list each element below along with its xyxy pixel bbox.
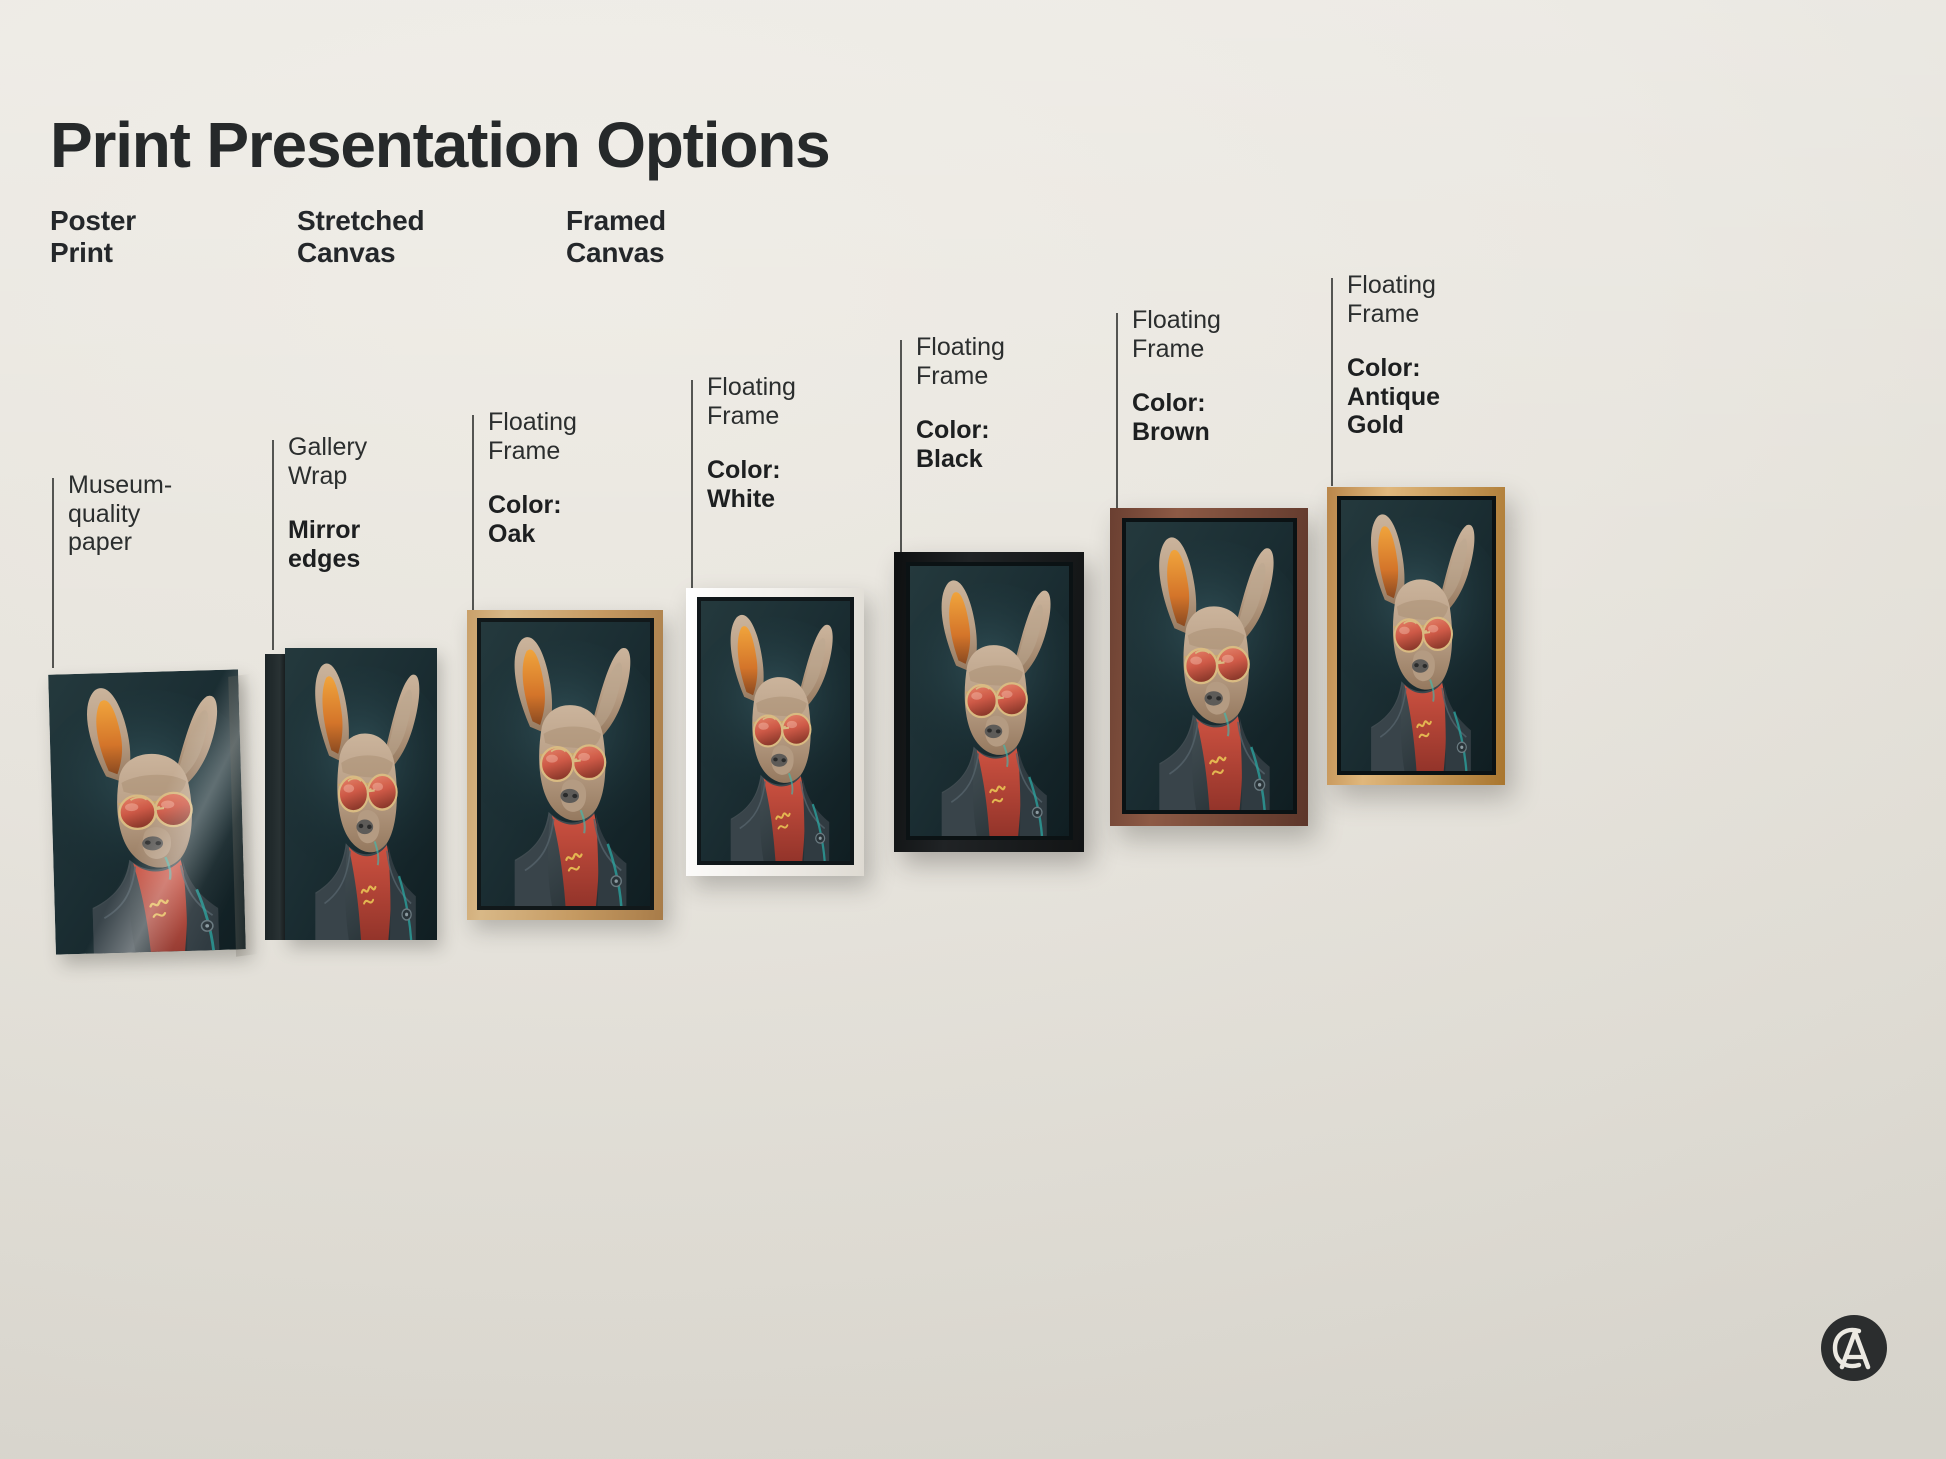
mockup-framed-antique-gold[interactable] (1327, 487, 1505, 785)
category-heading-framed-canvas: Framed Canvas (566, 205, 666, 270)
artwork-kangaroo (481, 622, 650, 906)
frame-gap (477, 618, 654, 910)
artwork-kangaroo (48, 669, 246, 954)
leader-line (272, 440, 274, 650)
callout-primary-text: Floating Frame (916, 333, 1106, 390)
canvas-face (701, 601, 850, 861)
canvas-face (285, 648, 437, 940)
callout-primary-text: Floating Frame (488, 408, 678, 465)
callout-primary-text: Museum- quality paper (68, 471, 258, 557)
mockup-framed-brown[interactable] (1110, 508, 1308, 826)
callout-secondary-text: Color: Black (916, 416, 1106, 473)
mockup-poster-print[interactable] (48, 669, 246, 954)
mockup-stretched-canvas[interactable] (265, 648, 437, 940)
artwork-kangaroo (285, 648, 437, 940)
frame-gap (1122, 518, 1297, 814)
leader-line (472, 415, 474, 615)
callout-primary-text: Floating Frame (1132, 306, 1322, 363)
page-title: Print Presentation Options (50, 108, 830, 182)
artwork-kangaroo (1126, 522, 1293, 810)
canvas-face (481, 622, 650, 906)
callout-secondary-text: Color: Brown (1132, 389, 1322, 446)
artwork-kangaroo (910, 566, 1069, 836)
mockup-framed-white[interactable] (686, 588, 864, 876)
callout-secondary-text: Color: White (707, 456, 897, 513)
callout-primary-text: Gallery Wrap (288, 433, 478, 490)
canvas-depth-edge (265, 654, 286, 940)
artwork-kangaroo (701, 601, 850, 861)
leader-line (691, 380, 693, 592)
category-heading-poster-print: Poster Print (50, 205, 136, 270)
leader-line (1116, 313, 1118, 513)
ca-monogram-logo (1818, 1312, 1890, 1384)
leader-line (52, 478, 54, 668)
artwork-kangaroo (1341, 500, 1492, 771)
frame-gap (697, 597, 854, 865)
mockup-framed-oak[interactable] (467, 610, 663, 920)
callout-primary-text: Floating Frame (1347, 271, 1537, 328)
callout-secondary-text: Color: Oak (488, 491, 678, 548)
canvas-face (1341, 500, 1492, 771)
frame-gap (1337, 496, 1496, 775)
canvas-face (1126, 522, 1293, 810)
callout-secondary-text: Color: Antique Gold (1347, 354, 1537, 440)
category-heading-stretched-canvas: Stretched Canvas (297, 205, 424, 270)
canvas-face (910, 566, 1069, 836)
mockup-framed-black[interactable] (894, 552, 1084, 852)
leader-line (1331, 278, 1333, 486)
leader-line (900, 340, 902, 555)
frame-gap (906, 562, 1073, 840)
callout-secondary-text: Mirror edges (288, 516, 478, 573)
callout-primary-text: Floating Frame (707, 373, 897, 430)
